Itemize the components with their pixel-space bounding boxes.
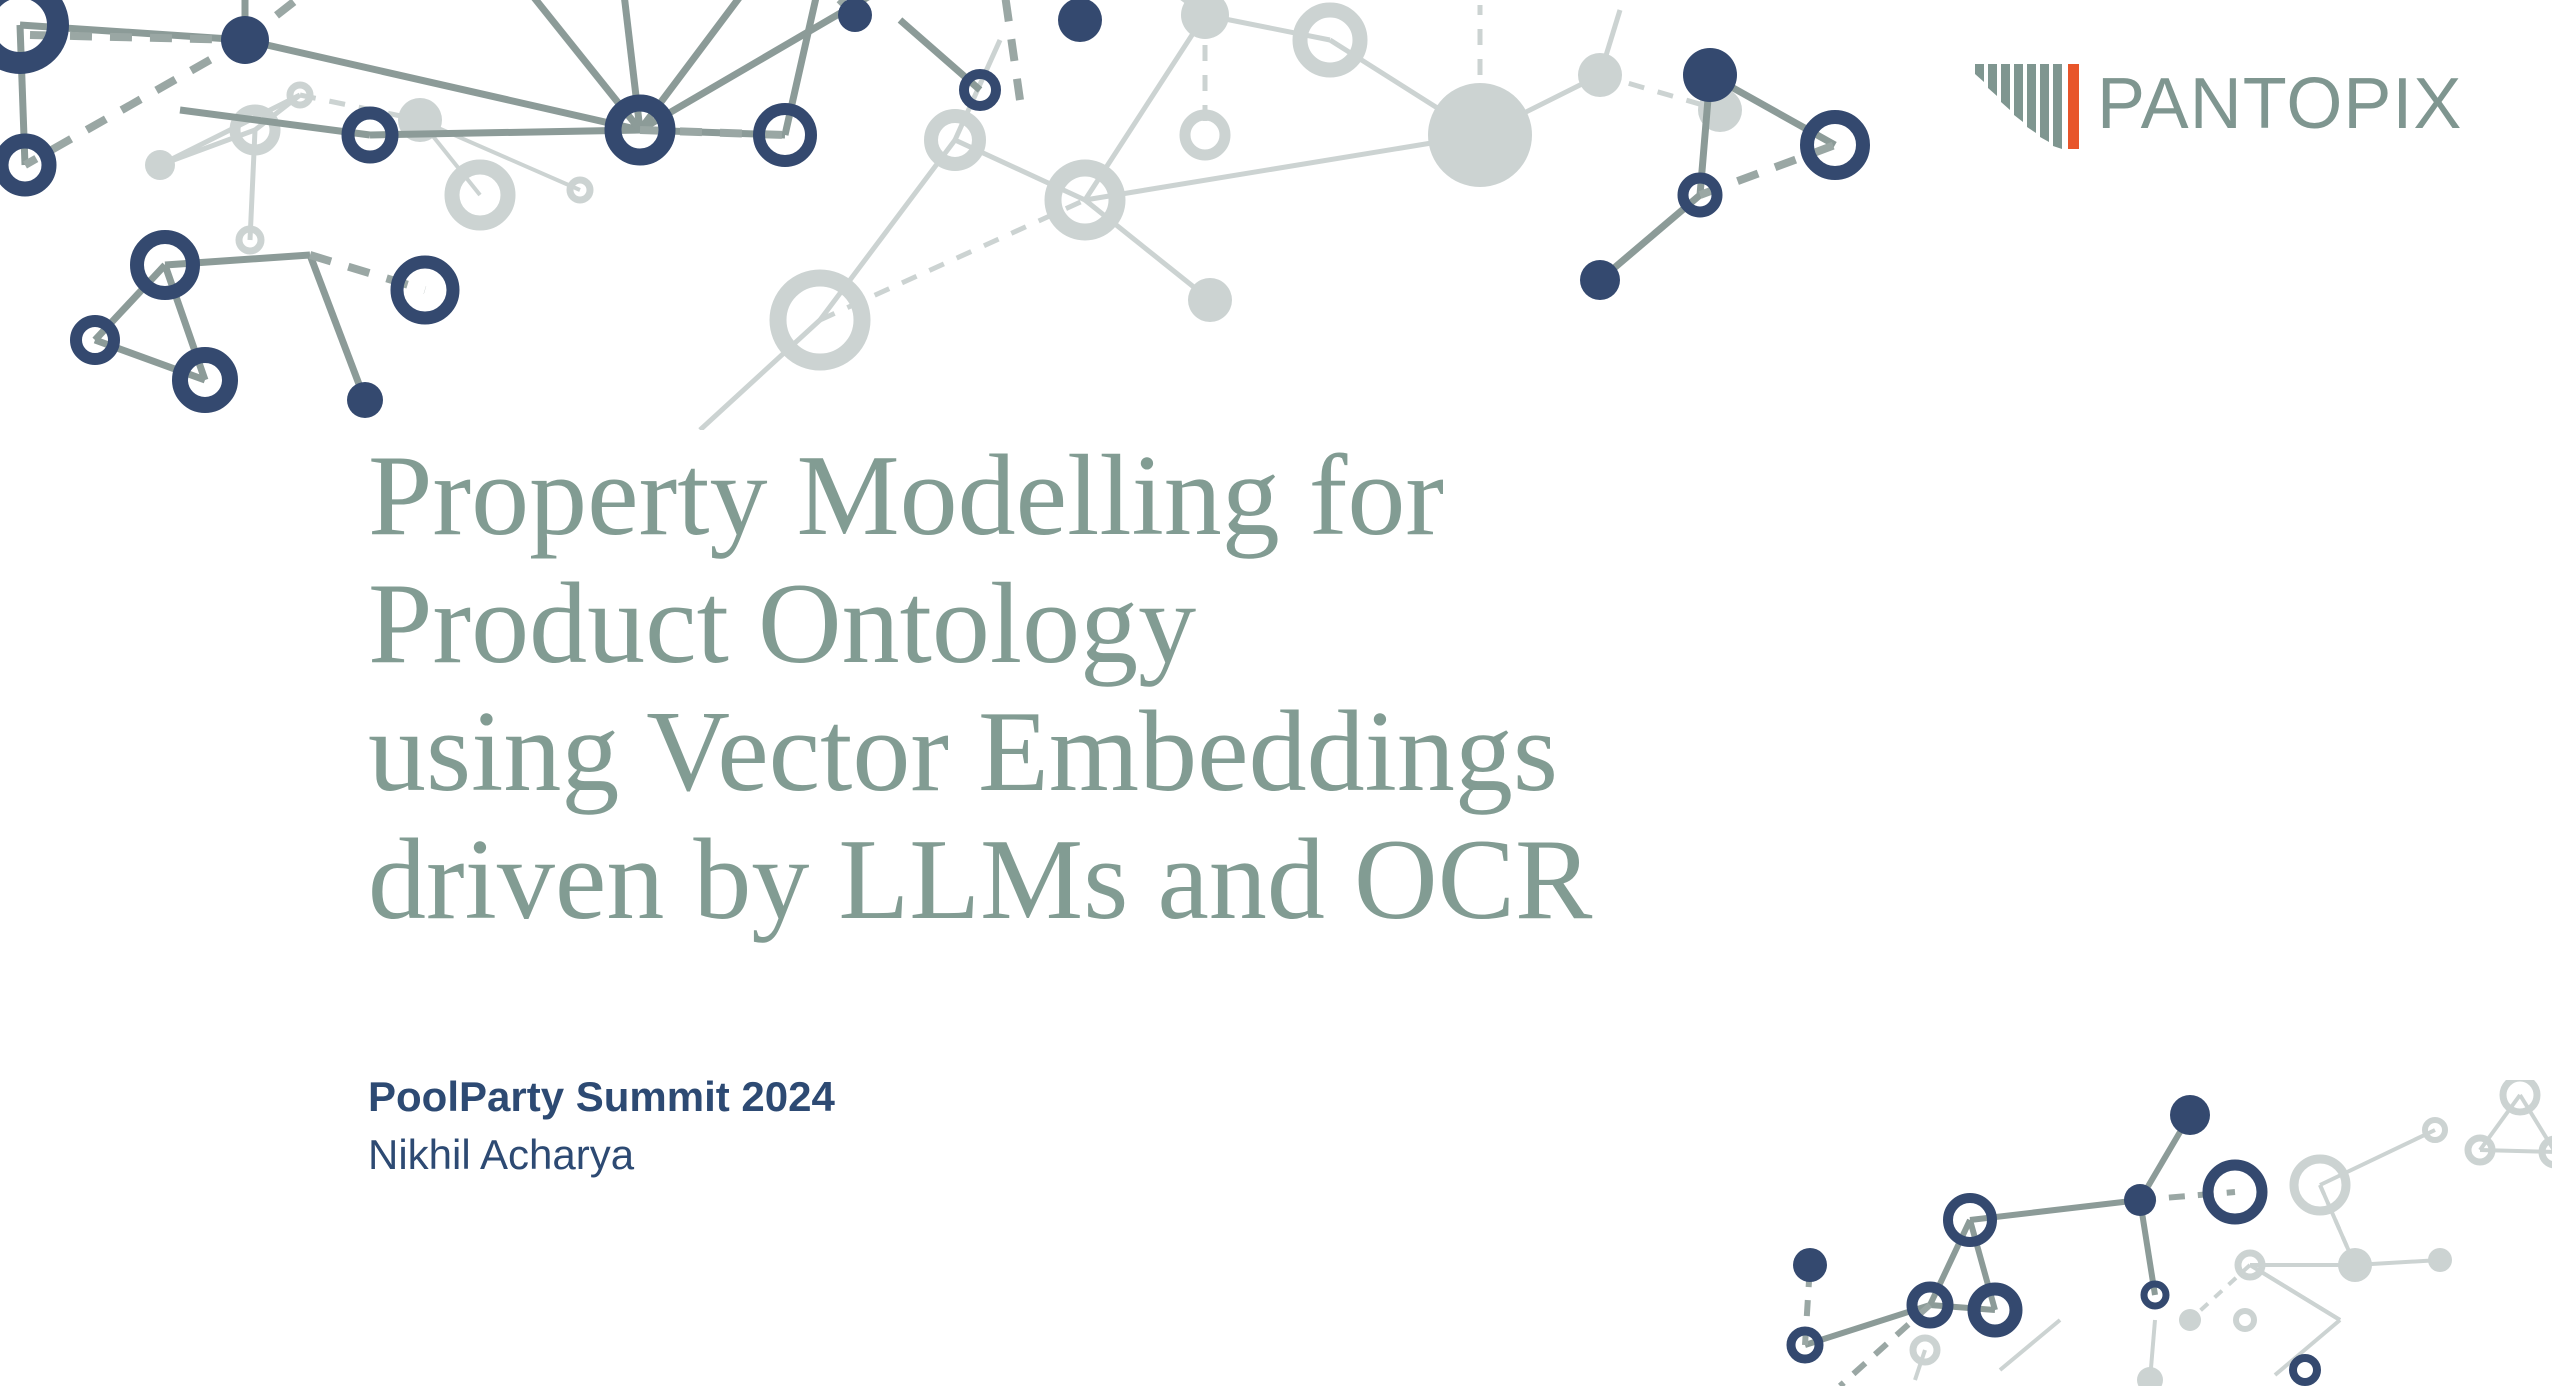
accent-bar-icon [2068, 64, 2079, 149]
solid-edges-bottom [1805, 1115, 2190, 1345]
subtitle-block: PoolParty Summit 2024 Nikhil Acharya [368, 1068, 1568, 1184]
light-edges-top [160, 0, 1620, 430]
title-line-2: Product Ontology [368, 560, 2068, 688]
title-slide: PANTOPIX Property Modelling for Product … [0, 0, 2552, 1386]
light-nodes-top [145, 0, 1742, 362]
title-line-1: Property Modelling for [368, 432, 2068, 560]
navy-nodes-top [0, 0, 1863, 418]
solid-edges-top [20, 0, 1835, 400]
decorative-network-graph-bottom [1700, 1080, 2552, 1386]
title-line-4: driven by LLMs and OCR [368, 816, 2068, 944]
dashed-edges-bottom [1805, 1192, 2235, 1386]
title-line-3: using Vector Embeddings [368, 688, 2068, 816]
light-nodes-bottom [1913, 1080, 2552, 1386]
light-edges-bottom [1915, 1095, 2552, 1380]
page-title: Property Modelling for Product Ontology … [368, 432, 2068, 944]
presenter-name: Nikhil Acharya [368, 1126, 1568, 1184]
dashed-edges-top [25, 0, 1835, 290]
light-dashed-edges-top [300, 5, 1720, 320]
light-dashed-edges-bottom [2190, 1185, 2355, 1320]
pantopix-bars-mark-icon [1975, 58, 2085, 150]
navy-nodes-bottom [1791, 1095, 2317, 1382]
light-edges-top-2 [420, 120, 580, 195]
pantopix-logo: PANTOPIX [1975, 58, 2515, 158]
event-name: PoolParty Summit 2024 [368, 1068, 1568, 1126]
pantopix-wordmark: PANTOPIX [2097, 58, 2462, 150]
